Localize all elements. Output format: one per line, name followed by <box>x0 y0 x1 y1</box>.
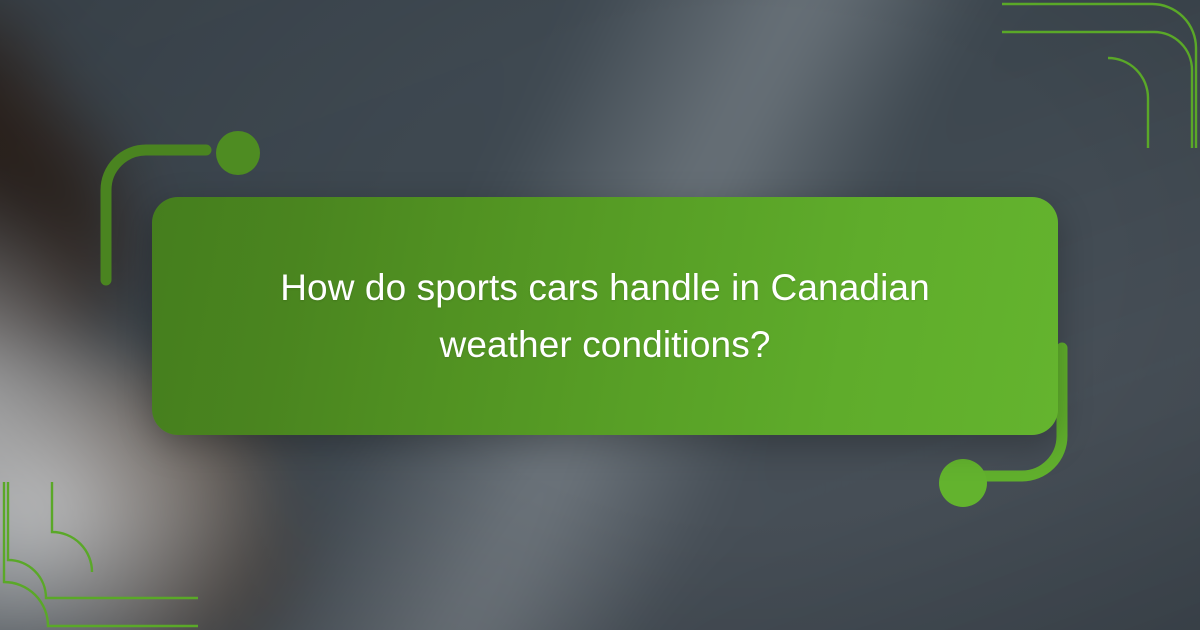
top-left-circle-ornament <box>216 131 260 175</box>
bottom-right-circle-ornament <box>939 459 987 507</box>
question-card: How do sports cars handle in Canadian we… <box>152 197 1058 435</box>
question-text: How do sports cars handle in Canadian we… <box>265 259 945 374</box>
social-card-canvas: How do sports cars handle in Canadian we… <box>0 0 1200 630</box>
